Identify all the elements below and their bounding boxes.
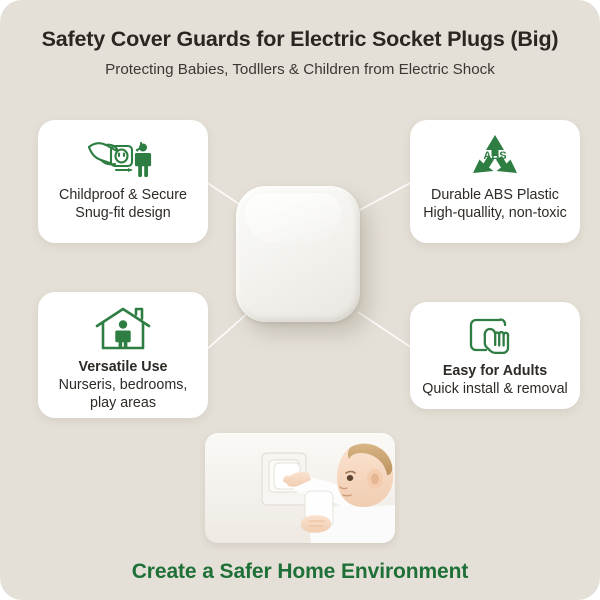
abs-recycle-icon: ABS <box>467 133 523 181</box>
hand-plug-child-icon <box>86 133 160 181</box>
footer: Create a Safer Home Environment <box>0 560 600 584</box>
socket-cover-product <box>236 186 360 322</box>
feature-card-text: Childproof & Secure Snug-fit design <box>59 186 187 222</box>
lifestyle-photo <box>205 433 395 543</box>
product-highlight <box>245 193 341 243</box>
feature-card-versatile-use[interactable]: Versatile Use Nurseris, bedrooms, play a… <box>38 292 208 418</box>
page-title: Safety Cover Guards for Electric Socket … <box>0 26 600 53</box>
header: Safety Cover Guards for Electric Socket … <box>0 26 600 80</box>
hand-tap-square-icon <box>466 315 524 359</box>
feature-line-1: Easy for Adults <box>422 362 567 380</box>
feature-line-3: play areas <box>59 394 188 412</box>
house-child-icon <box>92 305 154 353</box>
page-subtitle: Protecting Babies, Todllers & Children f… <box>0 60 600 80</box>
abs-icon-label: ABS <box>483 150 506 162</box>
connector-line-bottom-right <box>358 312 412 348</box>
feature-line-2: High-quallity, non-toxic <box>423 204 567 222</box>
feature-card-text: Easy for Adults Quick install & removal <box>422 362 567 398</box>
feature-line-1: Childproof & Secure <box>59 186 187 204</box>
feature-line-2: Snug-fit design <box>59 204 187 222</box>
feature-line-2: Nurseris, bedrooms, <box>59 376 188 394</box>
footer-tagline: Create a Safer Home Environment <box>0 560 600 584</box>
connector-line-top-right <box>356 182 412 212</box>
feature-line-1: Versatile Use <box>59 358 188 376</box>
feature-card-easy-for-adults[interactable]: Easy for Adults Quick install & removal <box>410 302 580 409</box>
feature-card-text: Versatile Use Nurseris, bedrooms, play a… <box>59 358 188 412</box>
feature-card-text: Durable ABS Plastic High-quallity, non-t… <box>423 186 567 222</box>
feature-line-2: Quick install & removal <box>422 380 567 398</box>
feature-line-1: Durable ABS Plastic <box>423 186 567 204</box>
feature-card-abs-plastic[interactable]: ABS Durable ABS Plastic High-quallity, n… <box>410 120 580 243</box>
baby-touching-socket-illustration <box>205 433 395 543</box>
product-infographic-poster: Safety Cover Guards for Electric Socket … <box>0 0 600 600</box>
product-hero-image <box>236 186 364 328</box>
feature-card-childproof[interactable]: Childproof & Secure Snug-fit design <box>38 120 208 243</box>
